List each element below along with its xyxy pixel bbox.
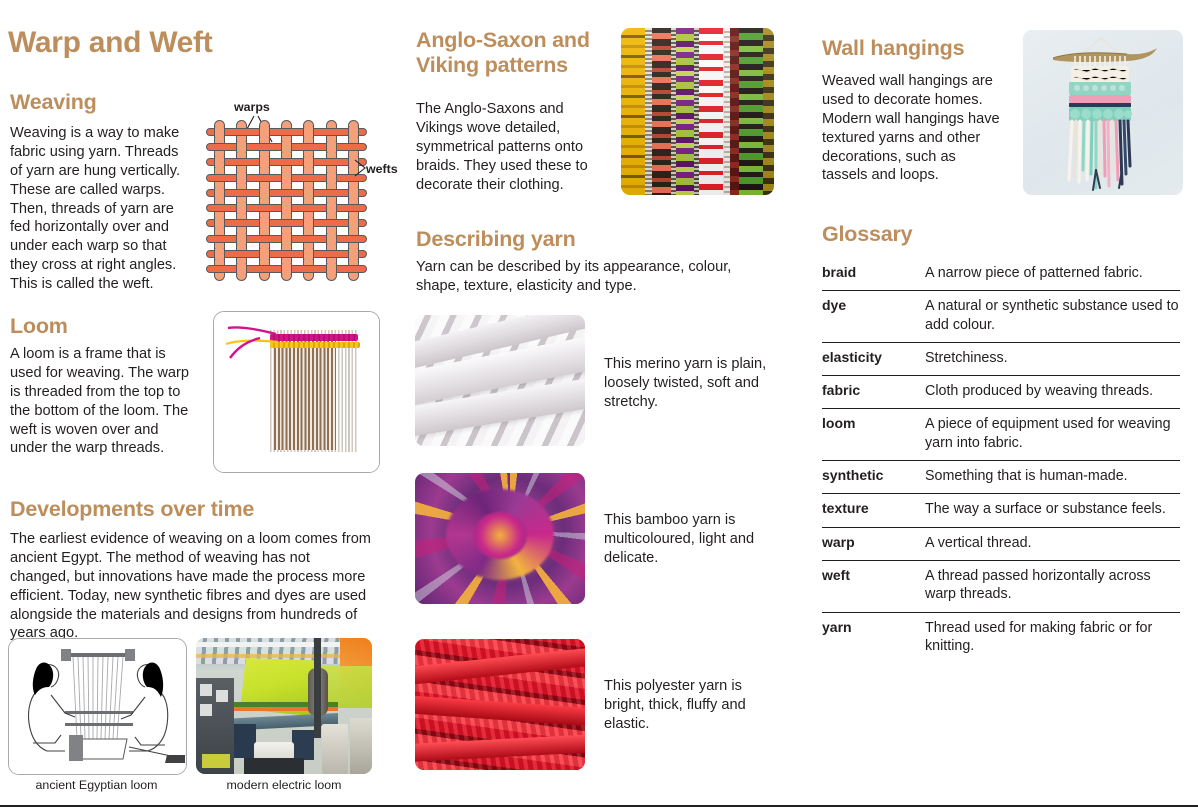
glossary-definition: A natural or synthetic substance used to… xyxy=(925,297,1180,334)
glossary-term: warp xyxy=(822,534,925,552)
egyptian-loom-caption: ancient Egyptian loom xyxy=(8,778,185,792)
warp-thread-over xyxy=(236,233,247,245)
glossary-heading: Glossary xyxy=(822,222,1022,247)
glossary-definition: A piece of equipment used for weaving ya… xyxy=(925,415,1180,452)
weft-thread xyxy=(206,189,367,197)
glossary-definition: The way a surface or substance feels. xyxy=(925,500,1180,518)
warp-thread-over xyxy=(281,172,292,184)
warp-thread-over xyxy=(303,156,314,168)
glossary-definition: A vertical thread. xyxy=(925,534,1180,552)
polyester-yarn-photo xyxy=(415,639,585,770)
infographic-page: Warp and Weft Weaving Weaving is a way t… xyxy=(0,0,1198,810)
warp-thread-over xyxy=(281,263,292,275)
modern-electric-loom-photo xyxy=(196,638,372,774)
weft-thread xyxy=(206,158,367,166)
glossary-term: weft xyxy=(822,567,925,604)
warp-thread-over xyxy=(214,217,225,229)
anglo-saxon-body: The Anglo-Saxons and Vikings wove detail… xyxy=(416,100,602,194)
describing-yarn-heading: Describing yarn xyxy=(416,227,666,252)
warp-thread-over xyxy=(214,156,225,168)
glossary-row: braidA narrow piece of patterned fabric. xyxy=(822,258,1180,291)
bamboo-yarn-photo xyxy=(415,473,585,604)
page-title: Warp and Weft xyxy=(8,26,338,60)
glossary-definition: A narrow piece of patterned fabric. xyxy=(925,264,1180,282)
egyptian-loom-frame xyxy=(8,638,187,775)
loom-photo xyxy=(214,312,379,472)
warp-thread-over xyxy=(236,141,247,153)
glossary-row: elasticityStretchiness. xyxy=(822,343,1180,376)
glossary-table: braidA narrow piece of patterned fabric.… xyxy=(822,258,1180,663)
weft-thread xyxy=(206,128,367,136)
developments-heading: Developments over time xyxy=(10,497,350,522)
glossary-term: fabric xyxy=(822,382,925,400)
warp-thread-over xyxy=(259,187,270,199)
describing-yarn-body: Yarn can be described by its appearance,… xyxy=(416,258,772,296)
glossary-row: syntheticSomething that is human-made. xyxy=(822,461,1180,494)
warp-thread-over xyxy=(348,217,359,229)
warp-thread-over xyxy=(326,233,337,245)
warp-thread-over xyxy=(236,202,247,214)
warp-thread-over xyxy=(236,263,247,275)
glossary-row: textureThe way a surface or substance fe… xyxy=(822,494,1180,527)
warp-thread-over xyxy=(214,126,225,138)
warps-label: warps xyxy=(234,100,270,114)
warp-thread-over xyxy=(326,141,337,153)
glossary-row: dyeA natural or synthetic substance used… xyxy=(822,291,1180,343)
warp-thread-over xyxy=(259,217,270,229)
merino-yarn-photo xyxy=(415,315,585,446)
glossary-row: loomA piece of equipment used for weavin… xyxy=(822,409,1180,461)
weaving-body: Weaving is a way to make fabric using ya… xyxy=(10,124,192,294)
wall-hangings-heading: Wall hangings xyxy=(822,36,1042,61)
footer-divider xyxy=(0,805,1198,807)
wefts-leader-lines xyxy=(354,158,368,178)
warp-thread-over xyxy=(214,187,225,199)
warp-thread-over xyxy=(303,126,314,138)
loom-loose-threads xyxy=(220,320,290,368)
warp-thread-over xyxy=(303,187,314,199)
warp-thread-over xyxy=(348,187,359,199)
merino-yarn-caption: This merino yarn is plain, loosely twist… xyxy=(604,355,776,412)
bamboo-yarn-caption: This bamboo yarn is multicoloured, light… xyxy=(604,511,776,568)
glossary-term: yarn xyxy=(822,619,925,656)
warp-thread-over xyxy=(236,172,247,184)
glossary-definition: Stretchiness. xyxy=(925,349,1180,367)
loom-heading: Loom xyxy=(10,314,220,339)
loom-photo-frame xyxy=(213,311,380,473)
glossary-row: yarnThread used for making fabric or for… xyxy=(822,613,1180,664)
glossary-term: dye xyxy=(822,297,925,334)
warp-thread-over xyxy=(259,248,270,260)
warp-thread-over xyxy=(326,263,337,275)
glossary-term: elasticity xyxy=(822,349,925,367)
glossary-definition: Thread used for making fabric or for kni… xyxy=(925,619,1180,656)
egyptian-loom-illustration xyxy=(9,639,186,774)
developments-body: The earliest evidence of weaving on a lo… xyxy=(10,530,372,643)
glossary-term: texture xyxy=(822,500,925,518)
polyester-yarn-caption: This polyester yarn is bright, thick, fl… xyxy=(604,677,776,734)
wall-hangings-body: Weaved wall hangings are used to decorat… xyxy=(822,72,1004,185)
warp-thread-over xyxy=(326,172,337,184)
warp-thread-over xyxy=(214,248,225,260)
warp-thread-over xyxy=(281,141,292,153)
warp-thread-over xyxy=(259,156,270,168)
loom-body: A loom is a frame that is used for weavi… xyxy=(10,345,190,458)
wefts-label: wefts xyxy=(366,162,398,176)
glossary-definition: A thread passed horizontally across warp… xyxy=(925,567,1180,604)
woven-braids-photo xyxy=(621,28,774,195)
warp-thread-over xyxy=(348,248,359,260)
glossary-definition: Cloth produced by weaving threads. xyxy=(925,382,1180,400)
glossary-term: braid xyxy=(822,264,925,282)
anglo-saxon-heading: Anglo-Saxon and Viking patterns xyxy=(416,28,606,78)
weave-diagram: warps wefts xyxy=(204,100,404,290)
glossary-definition: Something that is human-made. xyxy=(925,467,1180,485)
woven-wall-hanging-photo xyxy=(1023,30,1183,195)
warp-thread-over xyxy=(281,233,292,245)
weft-thread xyxy=(206,250,367,258)
glossary-term: synthetic xyxy=(822,467,925,485)
weaving-heading: Weaving xyxy=(10,90,230,115)
weft-thread xyxy=(206,219,367,227)
glossary-term: loom xyxy=(822,415,925,452)
warp-thread-over xyxy=(326,202,337,214)
weave-grid xyxy=(214,128,359,273)
glossary-row: warpA vertical thread. xyxy=(822,528,1180,561)
wall-hanging-cords xyxy=(1023,30,1183,195)
warp-thread-over xyxy=(303,217,314,229)
glossary-row: fabricCloth produced by weaving threads. xyxy=(822,376,1180,409)
warp-thread-over xyxy=(348,126,359,138)
modern-electric-loom-caption: modern electric loom xyxy=(196,778,372,792)
warp-thread-over xyxy=(303,248,314,260)
glossary-row: weftA thread passed horizontally across … xyxy=(822,561,1180,613)
warp-thread-over xyxy=(259,126,270,138)
warp-thread-over xyxy=(281,202,292,214)
